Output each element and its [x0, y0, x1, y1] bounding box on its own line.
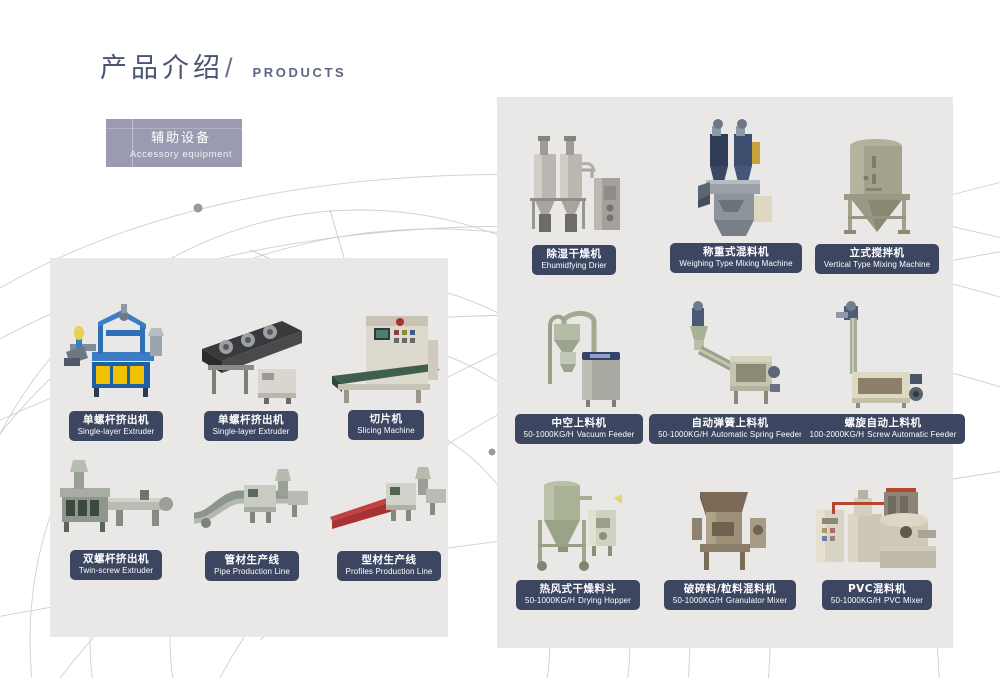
product-name-en: Pipe Production Line: [214, 567, 290, 576]
product-name-cn: 中空上料机: [524, 417, 635, 429]
product-name-en: Profiles Production Line: [346, 567, 433, 576]
product-label: 螺旋自动上料机 100-2000KG/HScrew Automatic Feed…: [801, 414, 966, 444]
product-capacity: 50-1000KG/H: [525, 596, 575, 605]
product-name-en: 50-1000KG/HGranulator Mixer: [673, 596, 787, 605]
product-label: 管材生产线 Pipe Production Line: [205, 551, 299, 581]
product-label: 双螺杆挤出机 Twin-screw Extruder: [70, 550, 162, 580]
single-layer-extruder-image: [62, 300, 170, 405]
dehumidifying-drier-image: [520, 128, 628, 238]
product-name-en: Weighing Type Mixing Machine: [679, 259, 792, 268]
product-card-single-layer-extruder-2[interactable]: 单螺杆挤出机 Single-layer Extruder: [196, 303, 306, 441]
page-title-cn: 产品介绍: [100, 46, 224, 85]
product-card-vertical-mixing-machine[interactable]: 立式搅拌机 Vertical Type Mixing Machine: [818, 120, 936, 274]
category-tab-label-en: Accessory equipment: [130, 149, 232, 160]
product-label: 单螺杆挤出机 Single-layer Extruder: [204, 411, 299, 441]
category-tab-accessory-equipment[interactable]: 辅助设备 Accessory equipment: [106, 119, 242, 167]
product-name-cn: 自动弹簧上料机: [658, 417, 802, 429]
product-label: 除湿干燥机 Ehumidfying Drier: [532, 245, 615, 275]
product-name-en: Vertical Type Mixing Machine: [824, 260, 930, 269]
product-label: 破碎料/粒料混料机 50-1000KG/HGranulator Mixer: [664, 580, 796, 610]
product-name-en: 100-2000KG/HScrew Automatic Feeder: [810, 430, 957, 439]
slicing-machine-image: [330, 302, 442, 405]
product-label: 中空上料机 50-1000KG/HVacuum Feeder: [515, 414, 644, 444]
profiles-production-line-image: [330, 455, 448, 545]
product-capacity: 100-2000KG/H: [810, 430, 865, 439]
product-card-vacuum-feeder[interactable]: 中空上料机 50-1000KG/HVacuum Feeder: [524, 300, 634, 444]
product-label: 热风式干燥料斗 50-1000KG/HDrying Hopper: [516, 580, 640, 610]
product-card-pipe-production-line[interactable]: 管材生产线 Pipe Production Line: [192, 455, 312, 581]
product-capacity: 50-1000KG/H: [524, 430, 574, 439]
page-title: 产品介绍 / PRODUCTS: [100, 46, 346, 85]
product-name-en-text: Vacuum Feeder: [577, 430, 635, 439]
product-card-granulator-mixer[interactable]: 破碎料/粒料混料机 50-1000KG/HGranulator Mixer: [672, 478, 788, 610]
product-name-en: 50-1000KG/HPVC Mixer: [831, 596, 923, 605]
product-name-cn: 单螺杆挤出机: [78, 414, 155, 426]
product-name-cn: 双螺杆挤出机: [79, 553, 153, 565]
product-name-cn: 除湿干燥机: [541, 248, 606, 260]
automatic-spring-feeder-image: [670, 300, 790, 408]
product-name-en-text: Granulator Mixer: [726, 596, 787, 605]
product-card-spring-feeder[interactable]: 自动弹簧上料机 50-1000KG/HAutomatic Spring Feed…: [670, 300, 790, 444]
single-layer-extruder-roller-image: [196, 303, 306, 405]
product-name-cn: PVC混料机: [831, 583, 923, 595]
product-name-cn: 破碎料/粒料混料机: [673, 583, 787, 595]
product-card-screw-feeder[interactable]: 螺旋自动上料机 100-2000KG/HScrew Automatic Feed…: [822, 298, 944, 444]
vacuum-feeder-image: [524, 300, 634, 408]
product-name-cn: 管材生产线: [214, 554, 290, 566]
product-name-en-text: PVC Mixer: [884, 596, 923, 605]
product-label: 自动弹簧上料机 50-1000KG/HAutomatic Spring Feed…: [649, 414, 811, 444]
page-title-en: PRODUCTS: [253, 65, 347, 80]
product-card-drying-hopper[interactable]: 热风式干燥料斗 50-1000KG/HDrying Hopper: [522, 470, 634, 610]
product-name-en: 50-1000KG/HVacuum Feeder: [524, 430, 635, 439]
product-name-cn: 螺旋自动上料机: [810, 417, 957, 429]
product-name-cn: 型材生产线: [346, 554, 433, 566]
product-card-single-layer-extruder-1[interactable]: 单螺杆挤出机 Single-layer Extruder: [62, 300, 170, 441]
product-card-weighing-mixing-machine[interactable]: 称重式混料机 Weighing Type Mixing Machine: [672, 112, 800, 273]
product-name-en: Twin-screw Extruder: [79, 566, 153, 575]
product-capacity: 50-1000KG/H: [658, 430, 708, 439]
product-label: 立式搅拌机 Vertical Type Mixing Machine: [815, 244, 939, 274]
product-label: PVC混料机 50-1000KG/HPVC Mixer: [822, 580, 932, 610]
product-label: 称重式混料机 Weighing Type Mixing Machine: [670, 243, 801, 273]
product-name-cn: 称重式混料机: [679, 246, 792, 258]
product-name-cn: 切片机: [357, 413, 415, 425]
product-name-en: 50-1000KG/HDrying Hopper: [525, 596, 631, 605]
product-capacity: 50-1000KG/H: [831, 596, 881, 605]
product-label: 切片机 Slicing Machine: [348, 410, 424, 440]
product-name-en: 50-1000KG/HAutomatic Spring Feeder: [658, 430, 802, 439]
product-capacity: 50-1000KG/H: [673, 596, 723, 605]
twin-screw-extruder-image: [56, 452, 176, 544]
vertical-mixing-machine-image: [818, 120, 936, 238]
page-title-separator: /: [225, 53, 233, 84]
product-label: 型材生产线 Profiles Production Line: [337, 551, 442, 581]
product-card-profiles-production-line[interactable]: 型材生产线 Profiles Production Line: [330, 455, 448, 581]
product-name-en-text: Screw Automatic Feeder: [867, 430, 956, 439]
product-name-cn: 热风式干燥料斗: [525, 583, 631, 595]
granulator-mixer-image: [672, 478, 788, 574]
category-tab-label-cn: 辅助设备: [151, 127, 211, 146]
screw-automatic-feeder-image: [822, 298, 944, 408]
product-name-en: Single-layer Extruder: [78, 427, 155, 436]
product-name-en: Slicing Machine: [357, 426, 415, 435]
product-label: 单螺杆挤出机 Single-layer Extruder: [69, 411, 164, 441]
product-card-slicing-machine[interactable]: 切片机 Slicing Machine: [330, 302, 442, 440]
drying-hopper-image: [522, 470, 634, 574]
product-name-cn: 立式搅拌机: [824, 247, 930, 259]
weighing-mixing-machine-image: [672, 112, 800, 238]
pvc-mixer-image: [810, 480, 944, 574]
product-name-en-text: Automatic Spring Feeder: [711, 430, 802, 439]
product-name-en: Single-layer Extruder: [213, 427, 290, 436]
product-name-en-text: Drying Hopper: [578, 596, 631, 605]
product-name-cn: 单螺杆挤出机: [213, 414, 290, 426]
product-card-pvc-mixer[interactable]: PVC混料机 50-1000KG/HPVC Mixer: [810, 480, 944, 610]
product-name-en: Ehumidfying Drier: [541, 261, 606, 270]
product-card-twin-screw-extruder[interactable]: 双螺杆挤出机 Twin-screw Extruder: [56, 452, 176, 580]
product-card-dehumidifying-drier[interactable]: 除湿干燥机 Ehumidfying Drier: [520, 128, 628, 275]
pipe-production-line-image: [192, 455, 312, 545]
